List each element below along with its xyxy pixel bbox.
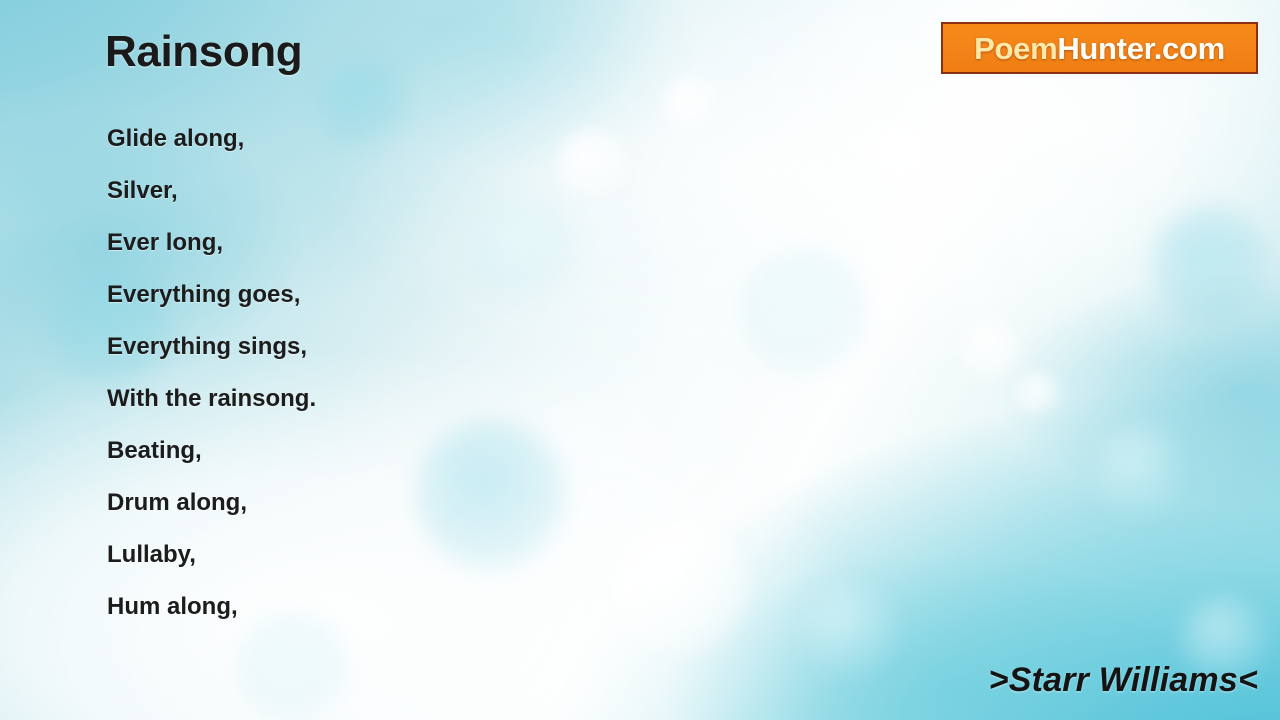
poem-line: Everything sings, [107, 321, 807, 373]
author-credit: >Starr Williams< [989, 661, 1258, 700]
poem-line: Hum along, [107, 581, 807, 633]
poem-poster: Rainsong Glide along, Silver, Ever long,… [0, 0, 1280, 720]
logo-text-com: .com [1154, 31, 1225, 66]
poemhunter-logo[interactable]: PoemHunter.com [941, 22, 1258, 74]
poem-line: Silver, [107, 165, 807, 217]
poster-content: Rainsong Glide along, Silver, Ever long,… [0, 0, 1280, 720]
poem-line: Everything goes, [107, 269, 807, 321]
poem-line: Ever long, [107, 217, 807, 269]
poem-line: Drum along, [107, 477, 807, 529]
poem-title: Rainsong [105, 27, 302, 77]
poem-line: With the rainsong. [107, 373, 807, 425]
poem-line: Lullaby, [107, 529, 807, 581]
logo-text-poem: Poem [974, 31, 1057, 66]
poem-line: Glide along, [107, 113, 807, 165]
logo-wordmark: PoemHunter.com [974, 33, 1225, 64]
poem-line: Beating, [107, 425, 807, 477]
poem-body: Glide along, Silver, Ever long, Everythi… [107, 113, 807, 633]
logo-text-hunter: Hunter [1057, 31, 1153, 66]
